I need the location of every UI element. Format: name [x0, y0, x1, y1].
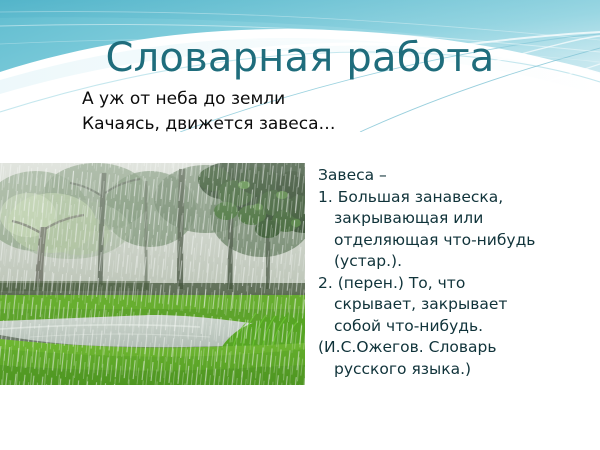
rain-photo [0, 163, 305, 385]
definition-entry-1-line-4: (устар.). [318, 251, 596, 273]
definition-headword: Завеса – [318, 165, 596, 187]
definition-entry-1-line-3: отделяющая что-нибудь [318, 230, 596, 252]
slide: Словарная работа А уж от неба до земли К… [0, 0, 600, 450]
definition-source-line-2: русского языка.) [318, 359, 596, 381]
definition-entry-2-line-1: 2. (перен.) То, что [318, 273, 596, 295]
quote-block: А уж от неба до земли Качаясь, движется … [82, 87, 382, 137]
page-title: Словарная работа [0, 34, 600, 82]
definition-entry-2-line-2: скрывает, закрывает [318, 294, 596, 316]
definition-source-line-1: (И.С.Ожегов. Словарь [318, 337, 596, 359]
definition-entry-1-line-2: закрывающая или [318, 208, 596, 230]
quote-line-1: А уж от неба до земли [82, 87, 382, 112]
definition-entry-2-line-3: собой что-нибудь. [318, 316, 596, 338]
definition-block: Завеса – 1. Большая занавеска, закрывающ… [318, 165, 596, 380]
definition-entry-1-line-1: 1. Большая занавеска, [318, 187, 596, 209]
quote-line-2: Качаясь, движется завеса… [82, 112, 382, 137]
